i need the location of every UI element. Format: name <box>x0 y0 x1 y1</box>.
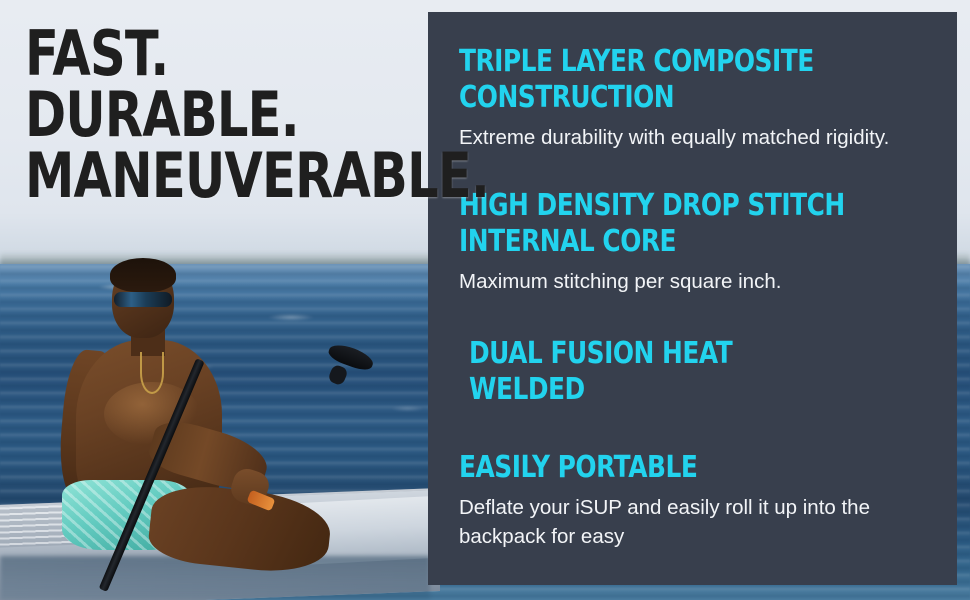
feature-item-dual-fusion: DUAL FUSION HEAT WELDED <box>459 336 933 408</box>
feature-body: Maximum stitching per square inch. <box>459 267 929 296</box>
headline-line-2: DURABLE. <box>25 85 489 146</box>
paddler-hair <box>110 258 176 292</box>
sunglasses-icon <box>114 292 172 307</box>
headline-line-1: FAST. <box>25 24 489 85</box>
headline-line-3: MANEUVERABLE. <box>25 146 489 207</box>
product-feature-banner: FAST. DURABLE. MANEUVERABLE. TRIPLE LAYE… <box>0 0 970 600</box>
feature-body: Deflate your iSUP and easily roll it up … <box>459 493 929 551</box>
paddle-collar <box>327 364 349 387</box>
paddler-necklace <box>140 352 164 394</box>
feature-item-easily-portable: EASILY PORTABLE Deflate your iSUP and ea… <box>459 450 933 551</box>
feature-heading: EASILY PORTABLE <box>459 450 852 486</box>
headline-block: FAST. DURABLE. MANEUVERABLE. <box>25 24 605 206</box>
feature-heading: DUAL FUSION HEAT WELDED <box>469 336 854 408</box>
